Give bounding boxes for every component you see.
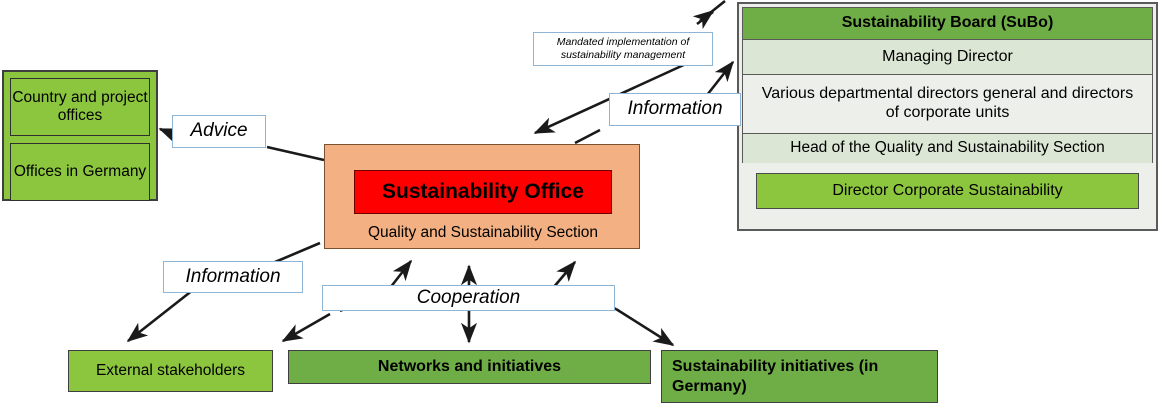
bottom-box-label: Networks and initiatives bbox=[378, 358, 561, 377]
left-panel-item-country-offices[interactable]: Country and project offices bbox=[10, 78, 150, 136]
label-information-top-text: Information bbox=[627, 98, 722, 120]
sustainability-office-subtitle: Quality and Sustainability Section bbox=[325, 219, 641, 247]
bottom-box-sustainability-initiatives[interactable]: Sustainability initiatives (in Germany) bbox=[661, 350, 938, 403]
label-mandated-implementation-text: Mandated implementation of sustainabilit… bbox=[540, 36, 706, 62]
bottom-box-label: External stakeholders bbox=[96, 362, 245, 380]
left-panel-item-germany-offices[interactable]: Offices in Germany bbox=[10, 143, 150, 201]
label-information-left-text: Information bbox=[185, 266, 280, 288]
bottom-box-external-stakeholders[interactable]: External stakeholders bbox=[68, 350, 273, 392]
sustainability-office-subtitle-label: Quality and Sustainability Section bbox=[368, 224, 598, 242]
left-offices-panel: Country and project offices Offices in G… bbox=[2, 70, 158, 201]
label-information-left[interactable]: Information bbox=[163, 261, 303, 293]
board-row-director-corporate-sustainability-wrap: Director Corporate Sustainability bbox=[742, 163, 1153, 219]
label-advice[interactable]: Advice bbox=[172, 115, 266, 148]
board-header: Sustainability Board (SuBo) bbox=[742, 7, 1153, 40]
board-row-label: Managing Director bbox=[882, 48, 1013, 67]
left-panel-item-label: Offices in Germany bbox=[14, 163, 146, 181]
board-row-label: Director Corporate Sustainability bbox=[832, 182, 1062, 201]
board-row-head-quality-section[interactable]: Head of the Quality and Sustainability S… bbox=[742, 133, 1153, 164]
bottom-box-networks-initiatives[interactable]: Networks and initiatives bbox=[288, 350, 651, 384]
board-row-departmental-directors[interactable]: Various departmental directors general a… bbox=[742, 74, 1153, 134]
board-row-director-corporate-sustainability[interactable]: Director Corporate Sustainability bbox=[756, 173, 1139, 209]
bottom-box-label: Sustainability initiatives (in Germany) bbox=[672, 357, 927, 395]
board-row-label: Various departmental directors general a… bbox=[755, 85, 1140, 123]
board-row-managing-director[interactable]: Managing Director bbox=[742, 39, 1153, 75]
sustainability-office-title-box: Sustainability Office bbox=[354, 170, 612, 214]
left-panel-item-label: Country and project offices bbox=[11, 89, 149, 126]
sustainability-office-box[interactable]: Sustainability Office Quality and Sustai… bbox=[324, 144, 640, 249]
label-mandated-implementation[interactable]: Mandated implementation of sustainabilit… bbox=[533, 32, 713, 66]
label-cooperation-text: Cooperation bbox=[417, 287, 521, 309]
sustainability-board-panel: Sustainability Board (SuBo) Managing Dir… bbox=[737, 2, 1158, 231]
board-header-label: Sustainability Board (SuBo) bbox=[842, 14, 1054, 33]
label-advice-text: Advice bbox=[190, 120, 247, 142]
sustainability-office-title: Sustainability Office bbox=[382, 180, 584, 205]
diagram-canvas: Country and project offices Offices in G… bbox=[0, 0, 1160, 413]
board-row-label: Head of the Quality and Sustainability S… bbox=[790, 139, 1105, 157]
label-information-top[interactable]: Information bbox=[609, 93, 741, 126]
label-cooperation[interactable]: Cooperation bbox=[322, 285, 615, 311]
